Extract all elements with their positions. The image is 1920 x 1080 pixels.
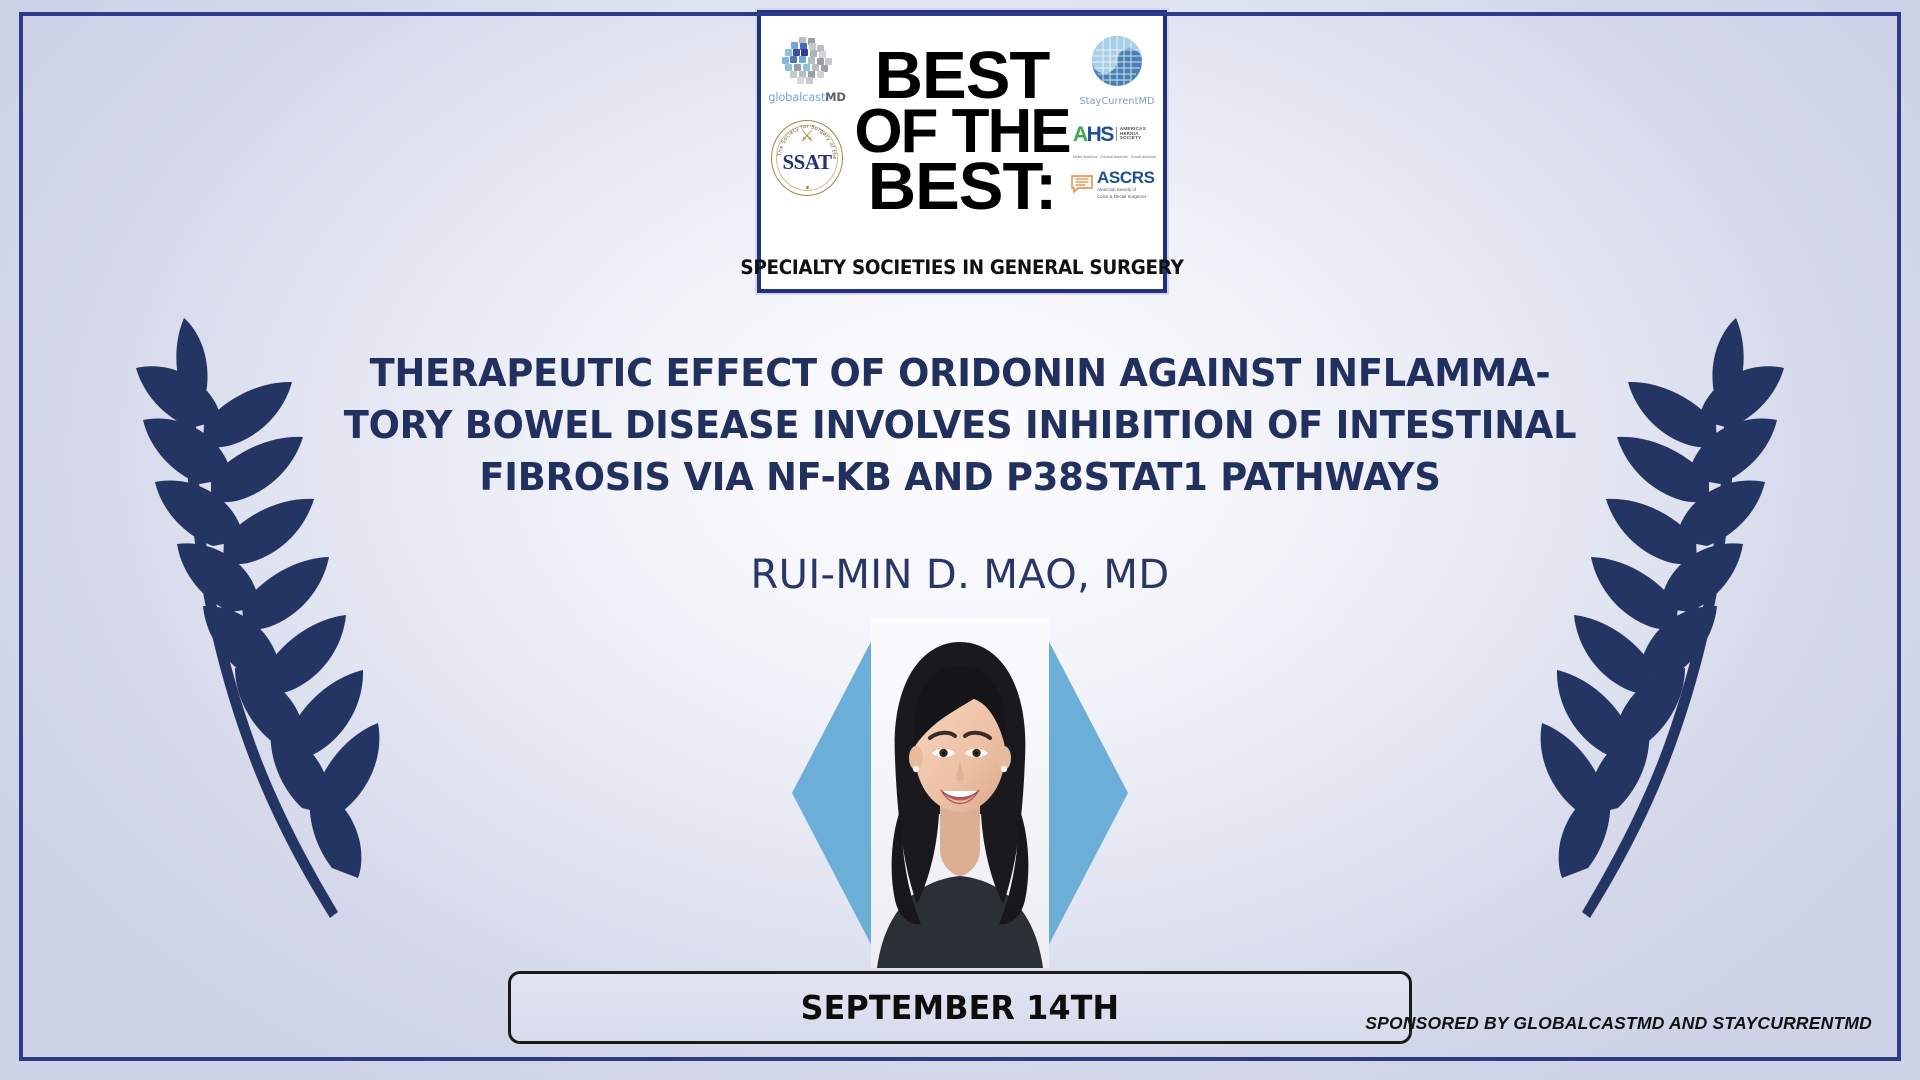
header-card-subtitle: SPECIALTY SOCIETIES IN GENERAL SURGERY	[773, 245, 1151, 289]
slide-canvas: globalcastMD ⚔ SSAT The Society for Surg…	[0, 0, 1920, 1080]
ssat-logo: ⚔ SSAT The Society for Surgery of the Al…	[771, 120, 843, 196]
ahs-society-name: AMERICAS HERNIA SOCIETY	[1116, 127, 1146, 141]
globalcastmd-logo: globalcastMD	[765, 36, 849, 104]
svg-text:The Society for Surgery of the: The Society for Surgery of the Alimentar…	[771, 120, 837, 160]
best-of-the-best-wordmark: BEST OF THE BEST:	[853, 14, 1071, 245]
staycurrentmd-logo: StayCurrentMD	[1074, 34, 1160, 107]
staycurrentmd-globe-icon	[1087, 34, 1147, 90]
ahs-logo: AHS AMERICAS HERNIA SOCIETY	[1073, 117, 1161, 151]
ascrs-speech-bubble-icon	[1071, 174, 1093, 194]
ascrs-name-line-2: Colon & Rectal Surgeons	[1097, 194, 1155, 200]
presenter-photo	[871, 618, 1049, 968]
event-date-label: SEPTEMBER 14TH	[801, 988, 1120, 1027]
presentation-title-line-3: FIBROSIS VIA NF-KB AND P38STAT1 PATHWAYS	[43, 452, 1877, 504]
ascrs-logo: ASCRS American Society of Colon & Rectal…	[1071, 169, 1163, 199]
globalcastmd-globe-icon	[779, 36, 835, 88]
ahs-letters-hs: HS	[1087, 123, 1113, 146]
ascrs-text: ASCRS American Society of Colon & Rectal…	[1097, 169, 1155, 199]
globalcastmd-word-dark: MD	[825, 90, 846, 104]
event-date-banner: SEPTEMBER 14TH	[508, 971, 1412, 1044]
ascrs-name-line-1: American Society of	[1097, 187, 1155, 193]
ahs-letter-a: A	[1073, 123, 1087, 146]
best-of-the-best-header-card: globalcastMD ⚔ SSAT The Society for Surg…	[757, 10, 1167, 293]
globalcastmd-word-light: globalcast	[768, 90, 825, 104]
presenter-portrait	[792, 618, 1128, 968]
ascrs-acronym: ASCRS	[1097, 169, 1155, 186]
header-logos-left: globalcastMD ⚔ SSAT The Society for Surg…	[761, 14, 853, 245]
presentation-title-line-2: TORY BOWEL DISEASE INVOLVES INHIBITION O…	[43, 400, 1877, 452]
presenter-name: RUI-MIN D. MAO, MD	[0, 552, 1920, 598]
presentation-title-line-1: THERAPEUTIC EFFECT OF ORIDONIN AGAINST I…	[43, 348, 1877, 400]
sponsor-credit: SPONSORED BY GLOBALCASTMD AND STAYCURREN…	[1365, 1013, 1872, 1034]
staycurrentmd-wordmark: StayCurrentMD	[1074, 96, 1160, 107]
bob-line-3: BEST:	[868, 158, 1057, 216]
ahs-acronym: AHS	[1073, 124, 1113, 145]
header-logos-right: StayCurrentMD AHS AMERICAS HERNIA SOCIET…	[1071, 14, 1163, 245]
ahs-name-line-3: SOCIETY	[1120, 136, 1146, 141]
ahs-subline: North America · Central America · South …	[1073, 155, 1161, 159]
presentation-title-block: THERAPEUTIC EFFECT OF ORIDONIN AGAINST I…	[0, 348, 1920, 598]
